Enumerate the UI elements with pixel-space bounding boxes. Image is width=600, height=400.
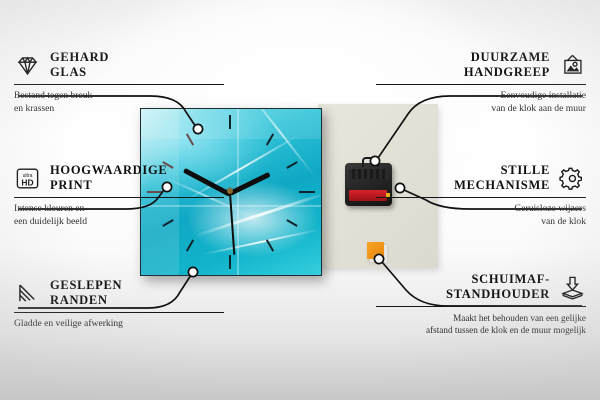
feature-title-line1: DUURZAME [464, 50, 550, 65]
feature-title-line1: GEHARD [50, 50, 109, 65]
feature-desc-line2: een duidelijk beeld [14, 216, 224, 229]
feature-title-line2: HANDGREEP [464, 65, 550, 80]
feature-desc-line1: Maakt het behouden van een gelijke [376, 312, 586, 324]
gear-icon [559, 166, 586, 191]
feature-desc-line1: Intense kleuren en [14, 203, 224, 216]
feature-title-line1: GESLEPEN [50, 278, 122, 293]
arrow-press-pad-icon [559, 275, 586, 300]
feature-desc-line1: Eenvoudige installatie [376, 90, 586, 103]
divider [376, 197, 586, 199]
divider [14, 84, 224, 86]
ultra-hd-icon: ultra HD [14, 166, 41, 191]
feature-header: SCHUIMAF- STANDHOUDER [376, 272, 586, 303]
feature-desc-line1: Gladde en veilige afwerking [14, 318, 224, 331]
feature-hoogwaardige-print[interactable]: ultra HD HOOGWAARDIGE PRINT Intense kleu… [14, 163, 224, 228]
feature-title-line2: STANDHOUDER [446, 287, 550, 302]
foam-spacer-pad [367, 242, 384, 259]
feature-title-line2: PRINT [50, 178, 167, 193]
feature-header: GEHARD GLAS [14, 50, 224, 81]
divider [376, 84, 586, 86]
feature-title-line2: GLAS [50, 65, 109, 80]
feature-title-line1: HOOGWAARDIGE [50, 163, 167, 178]
feature-desc-line2: van de klok [376, 216, 586, 229]
feature-header: DUURZAME HANDGREEP [376, 50, 586, 81]
feature-geslepen-randen[interactable]: GESLEPEN RANDEN Gladde en veilige afwerk… [14, 278, 224, 331]
feature-header: GESLEPEN RANDEN [14, 278, 224, 309]
feature-desc-line1: Bestand tegen breuk [14, 90, 224, 103]
divider [14, 197, 224, 199]
feature-stille-mechanisme[interactable]: STILLE MECHANISME Geruisloze wijzers van… [376, 163, 586, 228]
feature-duurzame-handgreep[interactable]: DUURZAME HANDGREEP Eenvoudige installati… [376, 50, 586, 115]
infographic-canvas: GEHARD GLAS Bestand tegen breuk en krass… [0, 0, 600, 400]
feature-desc-line2: afstand tussen de klok en de muur mogeli… [376, 324, 586, 336]
feature-header: STILLE MECHANISME [376, 163, 586, 194]
diagonal-lines-icon [14, 281, 41, 306]
feature-desc-line1: Geruisloze wijzers [376, 203, 586, 216]
feature-title-line1: SCHUIMAF- [446, 272, 550, 287]
feature-header: ultra HD HOOGWAARDIGE PRINT [14, 163, 224, 194]
divider [376, 306, 586, 308]
hanging-picture-frame-icon [559, 53, 586, 78]
feature-desc-line2: van de klok aan de muur [376, 103, 586, 116]
svg-text:HD: HD [21, 177, 33, 187]
feature-desc-line2: en krassen [14, 103, 224, 116]
feature-schuimaf-standhouder[interactable]: SCHUIMAF- STANDHOUDER Maakt het behouden… [376, 272, 586, 336]
diamond-icon [14, 53, 41, 78]
feature-title-line2: RANDEN [50, 293, 122, 308]
divider [14, 312, 224, 314]
clock-hand-hub [227, 188, 233, 194]
feature-title-line1: STILLE [454, 163, 550, 178]
feature-title-line2: MECHANISME [454, 178, 550, 193]
feature-gehard-glas[interactable]: GEHARD GLAS Bestand tegen breuk en krass… [14, 50, 224, 115]
